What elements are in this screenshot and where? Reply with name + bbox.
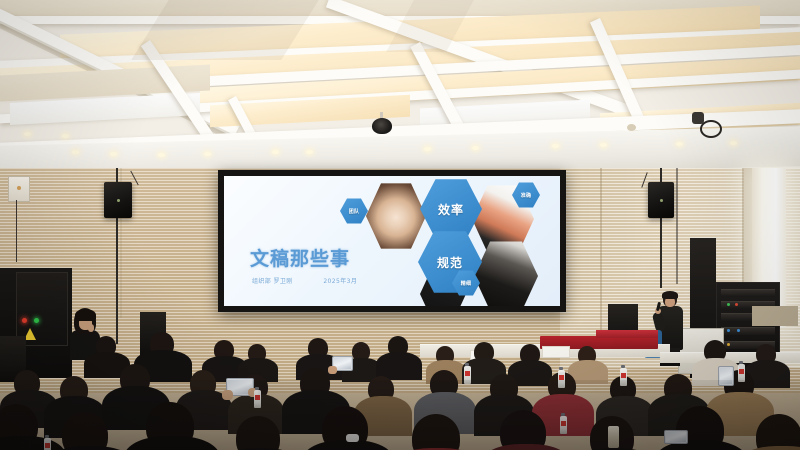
slide-photo-hands <box>366 182 426 250</box>
slide-subtitle-date: 2025年3月 <box>323 278 357 285</box>
right-wall-speaker <box>648 182 674 218</box>
ceiling <box>0 0 800 172</box>
hexagon-team: 团队 <box>340 198 368 224</box>
slide-subtitle: 组织部 罗卫刚 2025年3月 <box>252 276 357 285</box>
thermos-cup <box>608 426 619 448</box>
hexagon-team-label: 团队 <box>349 208 360 215</box>
left-wall-speaker <box>104 182 132 218</box>
phone-held-right <box>718 366 734 386</box>
conference-hall-photo: 效率 规范 团队 准确 精细 文稿那些事 组织部 罗卫刚 2025年3月 <box>0 0 800 450</box>
slide-title: 文稿那些事 <box>250 244 350 271</box>
water-bottle <box>44 438 51 450</box>
panel-green-indicator <box>34 318 39 323</box>
water-bottle <box>254 390 261 408</box>
hexagon-refined-label: 精细 <box>461 280 472 287</box>
seated-audience <box>0 330 800 450</box>
panel-red-indicator <box>22 318 27 323</box>
hexagon-standard-label: 规范 <box>437 254 463 271</box>
led-display-screen[interactable]: 效率 规范 团队 准确 精细 文稿那些事 组织部 罗卫刚 2025年3月 <box>218 170 566 312</box>
presentation-slide: 效率 规范 团队 准确 精细 文稿那些事 组织部 罗卫刚 2025年3月 <box>224 176 560 306</box>
water-bottle <box>738 364 745 382</box>
hexagon-efficiency-label: 效率 <box>438 201 464 218</box>
water-bottle <box>558 370 565 388</box>
slide-photo-signing <box>474 240 538 306</box>
slide-subtitle-dept: 组织部 罗卫刚 <box>252 278 293 285</box>
face-mask <box>346 434 359 442</box>
water-bottle <box>620 368 627 386</box>
wall-junction-box <box>8 176 30 202</box>
phone-bottom-right <box>664 430 688 444</box>
ceiling-camera-icon <box>372 118 392 134</box>
water-bottle <box>560 416 567 434</box>
hexagon-efficiency: 效率 <box>420 178 482 240</box>
ceiling-cable-icon <box>700 120 722 138</box>
hexagon-accurate-label: 准确 <box>521 192 532 199</box>
water-bottle <box>464 366 471 384</box>
